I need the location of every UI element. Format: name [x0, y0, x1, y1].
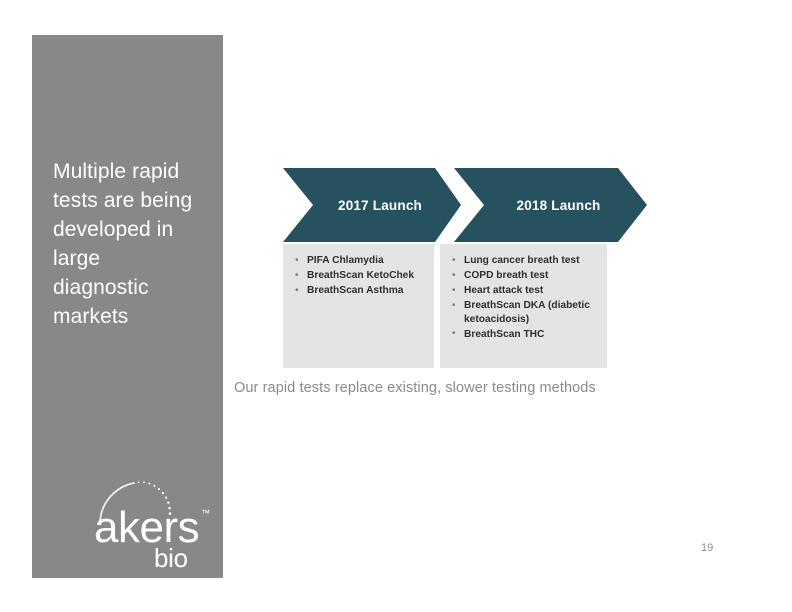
- chevron-stage-2017-label: 2017 Launch: [338, 198, 422, 213]
- page-title: Multiple rapid tests are being developed…: [53, 157, 218, 331]
- stage-2018-content-box: Lung cancer breath test COPD breath test…: [440, 244, 607, 368]
- page-number: 19: [701, 542, 713, 554]
- process-chevron-group: 2017 Launch 2018 Launch: [283, 168, 647, 242]
- chevron-stage-2017[interactable]: 2017 Launch: [283, 168, 461, 242]
- svg-text:bio: bio: [154, 543, 188, 570]
- list-item: Lung cancer breath test: [450, 254, 601, 268]
- list-item: Heart attack test: [450, 284, 601, 298]
- stage-2017-bullet-list: PIFA Chlamydia BreathScan KetoChek Breat…: [283, 244, 434, 298]
- chevron-stage-2018[interactable]: 2018 Launch: [454, 168, 647, 242]
- akers-bio-logo: akers ™ bio: [94, 478, 220, 570]
- slide-caption: Our rapid tests replace existing, slower…: [234, 380, 596, 396]
- list-item: BreathScan Asthma: [293, 284, 428, 298]
- stage-2018-bullet-list: Lung cancer breath test COPD breath test…: [440, 244, 607, 341]
- list-item: PIFA Chlamydia: [293, 254, 428, 268]
- chevron-stage-2018-label: 2018 Launch: [517, 198, 601, 213]
- list-item: BreathScan THC: [450, 328, 601, 342]
- svg-text:™: ™: [201, 508, 210, 518]
- left-sidebar-panel: Multiple rapid tests are being developed…: [32, 35, 223, 578]
- list-item: BreathScan DKA (diabetic ketoacidosis): [450, 299, 601, 326]
- stage-2017-content-box: PIFA Chlamydia BreathScan KetoChek Breat…: [283, 244, 434, 368]
- list-item: BreathScan KetoChek: [293, 269, 428, 283]
- list-item: COPD breath test: [450, 269, 601, 283]
